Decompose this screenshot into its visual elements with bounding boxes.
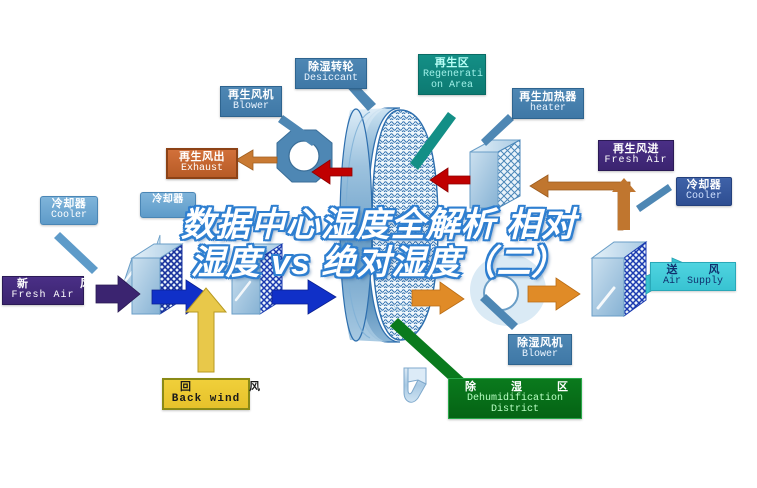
label-regeneration-area[interactable]: 再生区 Regenerati on Area: [418, 54, 486, 95]
label-exhaust[interactable]: 再生风出 Exhaust: [166, 148, 238, 179]
label-cooler-right[interactable]: 冷却器 Cooler: [676, 177, 732, 206]
schematic-graphics: XTY: [0, 0, 757, 488]
label-fresh-air-in[interactable]: 新 风 Fresh Air: [2, 276, 84, 305]
svg-text:XTY: XTY: [392, 303, 414, 315]
label-desiccant-wheel-en: Desiccant: [300, 74, 362, 85]
cooling-coil-right: [592, 242, 646, 316]
label-air-supply-en: Air Supply: [655, 277, 731, 288]
label-dehumidification-district[interactable]: 除 湿 区 Dehumidification District: [448, 378, 582, 419]
label-back-wind-en: Back wind: [168, 394, 244, 406]
regen-fresh-air-arrow: [530, 175, 630, 197]
label-regeneration-blower-en: Blower: [225, 102, 277, 113]
label-regeneration-heater-en: heater: [517, 104, 579, 115]
label-regeneration-blower[interactable]: 再生风机 Blower: [220, 86, 282, 117]
label-exhaust-en: Exhaust: [172, 164, 232, 175]
label-back-wind[interactable]: 回 风 Back wind: [162, 378, 250, 410]
label-regen-fresh-air-en: Fresh Air: [603, 156, 669, 167]
label-dehumidification-blower[interactable]: 除湿风机 Blower: [508, 334, 572, 365]
label-fresh-air-en: Fresh Air: [7, 291, 79, 302]
label-cooler-middle[interactable]: 冷却器: [140, 192, 196, 218]
exhaust-arrow: [236, 150, 277, 170]
desiccant-rotor: XTY: [340, 108, 438, 342]
duct-elbow: [404, 368, 426, 402]
label-cooler-left[interactable]: 冷却器 Cooler: [40, 196, 98, 225]
label-dehum-district-en2: District: [453, 405, 577, 416]
label-regeneration-heater[interactable]: 再生加热器 heater: [512, 88, 584, 119]
diagram-canvas: XTY: [0, 0, 757, 488]
label-desiccant-wheel[interactable]: 除湿转轮 Desiccant: [295, 58, 367, 89]
label-dehum-blower-en: Blower: [513, 350, 567, 361]
label-cooler-left-en: Cooler: [44, 211, 94, 222]
label-cooler-right-en: Cooler: [680, 192, 728, 203]
heater-coil: [470, 140, 520, 208]
label-regeneration-area-en2: on Area: [423, 81, 481, 92]
label-air-supply[interactable]: 送 风 Air Supply: [650, 262, 736, 291]
label-regeneration-fresh-air-in[interactable]: 再生风进 Fresh Air: [598, 140, 674, 171]
label-cooler-middle-cn: 冷却器: [144, 195, 192, 206]
